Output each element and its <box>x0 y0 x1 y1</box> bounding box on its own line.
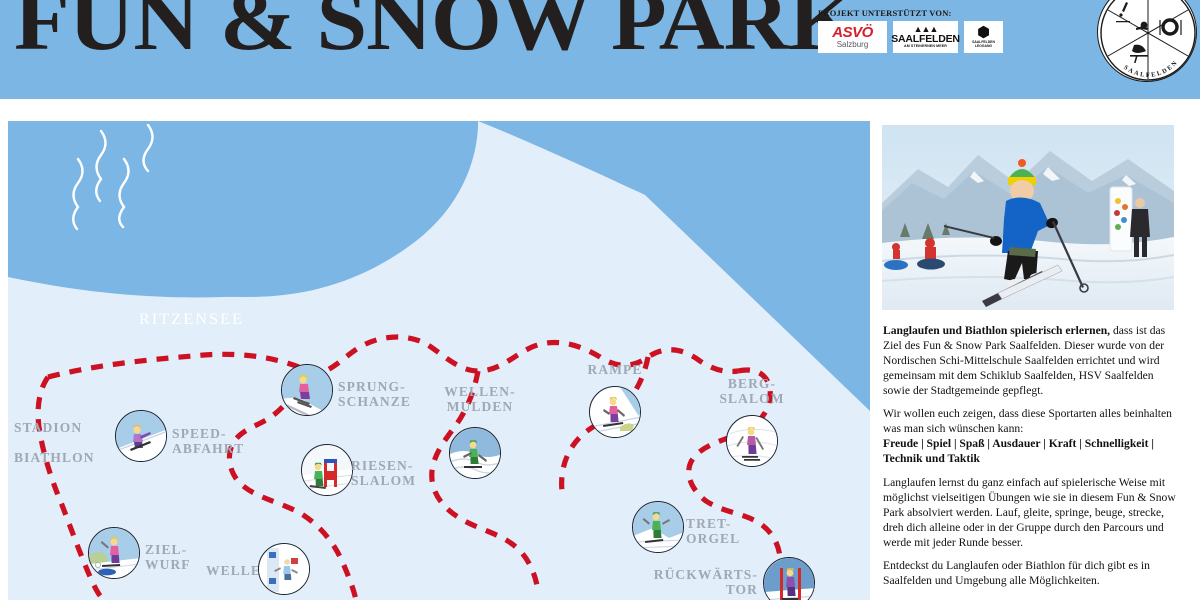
station-rueckwaerts-tor[interactable] <box>763 557 815 600</box>
paragraph-1: Langlaufen und Biathlon spielerisch erle… <box>883 324 1177 398</box>
climb-skier-pink-icon <box>727 416 778 467</box>
leogang-logo-sub: LEOGANG <box>975 45 992 49</box>
header-map-divider <box>0 99 1200 121</box>
sponsors-block: PROJEKT UNTERSTÜTZT VON: ASVÖ Salzburg ▲… <box>818 8 1003 53</box>
station-ziel-wurf[interactable] <box>88 527 140 579</box>
map-base-graphic <box>8 121 870 600</box>
backwards-skier-pink-icon <box>764 558 815 600</box>
step-skier-green-icon <box>633 502 684 553</box>
fun-snow-park-saalfelden-emblem[interactable]: PARK SAALFELDEN <box>1097 0 1197 82</box>
paragraph-1-lead: Langlaufen und Biathlon spielerisch erle… <box>883 324 1110 337</box>
info-text-block: Langlaufen und Biathlon spielerisch erle… <box>883 324 1177 598</box>
sponsors-caption: PROJEKT UNTERSTÜTZT VON: <box>818 8 1003 18</box>
ibex-icon: ⬢ <box>977 26 990 41</box>
wave-skier-small-icon <box>259 544 310 595</box>
saalfelden-logo[interactable]: ▲▲▲ SAALFELDEN AM STEINERNEN MEER <box>893 21 958 53</box>
station-riesen-slalom[interactable] <box>301 444 353 496</box>
paragraph-2: Wir wollen euch zeigen, dass diese Sport… <box>883 407 1177 437</box>
throwing-skier-pink-icon <box>89 528 140 579</box>
paragraph-3-qualities: Freude | Spiel | Spaß | Ausdauer | Kraft… <box>883 437 1177 467</box>
station-tret-orgel[interactable] <box>632 501 684 553</box>
station-wellen-mulden[interactable] <box>449 427 501 479</box>
station-welle[interactable] <box>258 543 310 595</box>
lake-label: RITZENSEE <box>139 311 244 329</box>
paragraph-5: Entdeckst du Langlaufen oder Biathlon fü… <box>883 559 1177 589</box>
sponsor-logo-row: ASVÖ Salzburg ▲▲▲ SAALFELDEN AM STEINERN… <box>818 21 1003 53</box>
station-speed-abfahrt[interactable] <box>115 410 167 462</box>
station-sprung-schanze[interactable] <box>281 364 333 416</box>
photo-graphic <box>882 125 1174 310</box>
asvoe-logo-word: ASVÖ <box>832 25 873 40</box>
emblem-graphic: PARK SAALFELDEN <box>1098 0 1197 82</box>
page-title: FUN & SNOW PARK <box>14 0 858 70</box>
downhill-skier-purple-icon <box>116 411 167 462</box>
header-band: FUN & SNOW PARK PROJEKT UNTERSTÜTZT VON:… <box>0 0 1200 99</box>
asvoe-salzburg-logo[interactable]: ASVÖ Salzburg <box>818 21 887 53</box>
gate-skier-green-icon <box>302 445 353 496</box>
station-berg-slalom[interactable] <box>726 415 778 467</box>
ski-jumper-pink-icon <box>282 365 333 416</box>
paragraph-4: Langlaufen lernst du ganz einfach auf sp… <box>883 476 1177 550</box>
saalfelden-logo-sub: AM STEINERNEN MEER <box>904 45 947 49</box>
asvoe-logo-sub: Salzburg <box>837 41 869 50</box>
mogul-skier-green-icon <box>450 428 501 479</box>
park-map[interactable]: RITZENSEE STADION BIATHLON WELLE TRICHTE… <box>8 121 870 600</box>
station-rampe[interactable] <box>589 386 641 438</box>
ramp-skier-pink-icon <box>590 387 641 438</box>
child-cross-country-skiing-photo <box>882 125 1174 310</box>
saalfelden-leogang-logo[interactable]: ⬢ SAALFELDEN LEOGANG <box>964 21 1003 53</box>
info-panel: Langlaufen und Biathlon spielerisch erle… <box>882 121 1192 600</box>
poster-page: FUN & SNOW PARK PROJEKT UNTERSTÜTZT VON:… <box>0 0 1200 600</box>
